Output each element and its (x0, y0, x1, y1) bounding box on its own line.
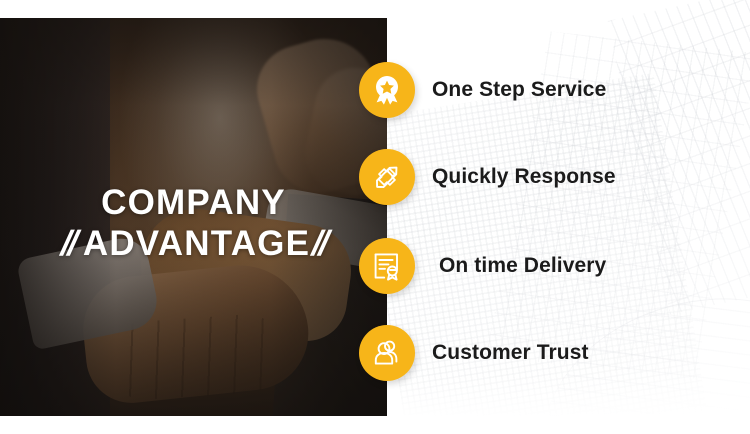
feature-item-customer-trust[interactable]: Customer Trust (359, 325, 739, 381)
feature-label-customer-trust: Customer Trust (432, 341, 589, 365)
feature-list: One Step Service Quickly Response (0, 0, 750, 434)
feature-item-one-step-service[interactable]: One Step Service (359, 62, 739, 118)
users-group-icon (359, 325, 415, 381)
award-medal-icon (359, 62, 415, 118)
certificate-seal-icon (359, 238, 415, 294)
pencil-pen-icon (359, 149, 415, 205)
feature-label-one-step-service: One Step Service (432, 78, 606, 102)
feature-label-quickly-response: Quickly Response (432, 165, 616, 189)
company-advantage-banner: COMPANY //ADVANTAGE// One Step Service (0, 0, 750, 434)
feature-item-quickly-response[interactable]: Quickly Response (359, 149, 739, 205)
feature-item-on-time-delivery[interactable]: On time Delivery (359, 238, 739, 294)
feature-label-on-time-delivery: On time Delivery (439, 254, 606, 278)
